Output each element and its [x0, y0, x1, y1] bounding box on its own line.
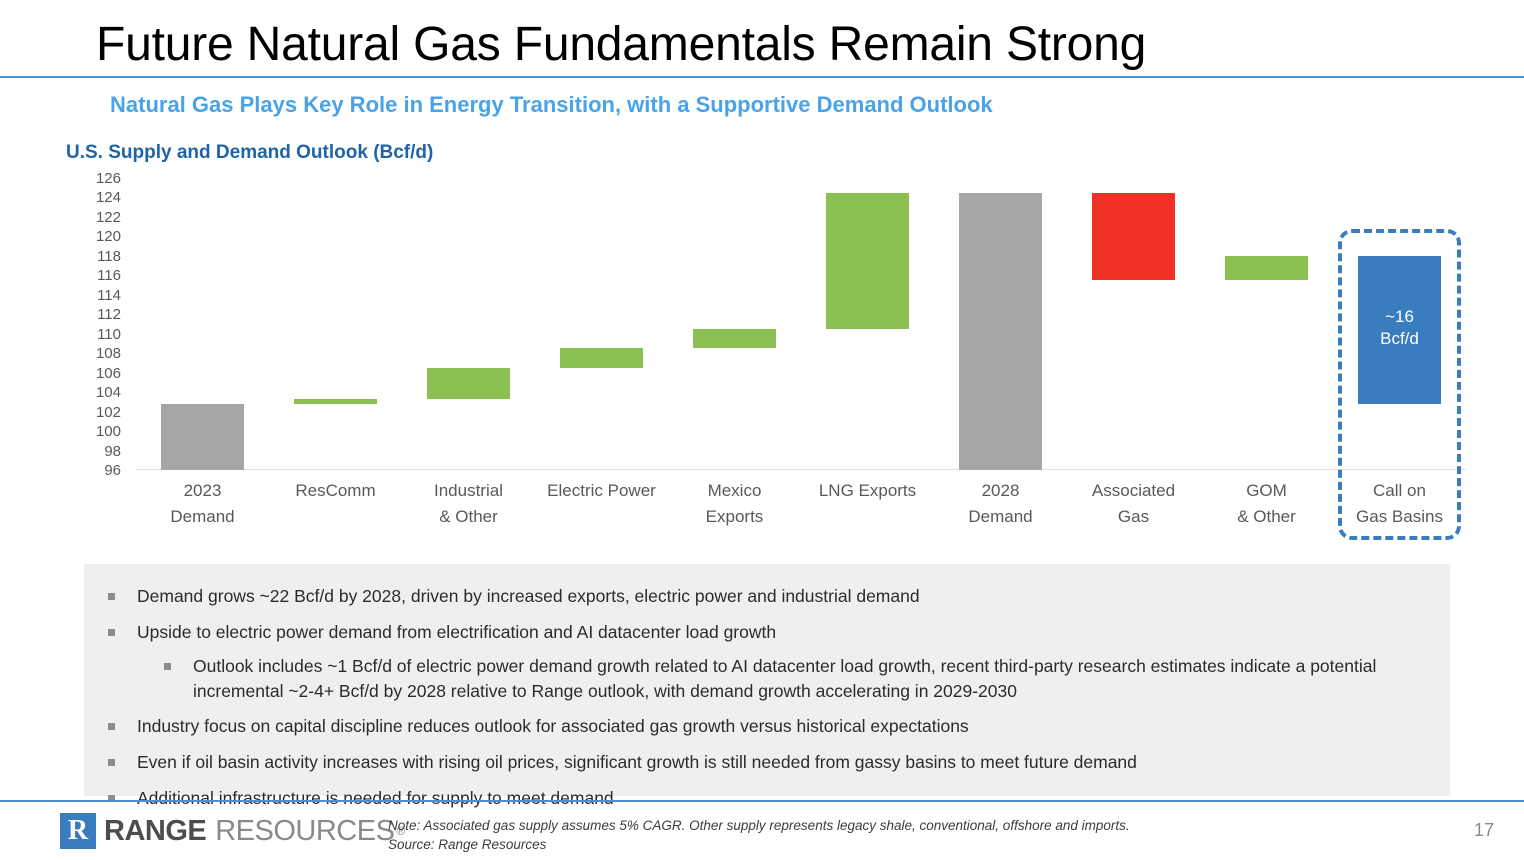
x-axis-label-line-2: & Other	[402, 504, 535, 530]
y-axis-tick: 120	[96, 229, 121, 244]
x-axis-label-electric-power: Electric Power	[535, 478, 668, 504]
title-divider	[0, 76, 1524, 78]
footnote-line-2: Source: Range Resources	[388, 835, 1130, 854]
x-axis-label-line-1: GOM	[1200, 478, 1333, 504]
x-axis-label-line-2: Exports	[668, 504, 801, 530]
page-number: 17	[1474, 820, 1494, 841]
x-axis-label-gom-other: GOM& Other	[1200, 478, 1333, 530]
footnote-line-1: Note: Associated gas supply assumes 5% C…	[388, 816, 1130, 835]
y-axis-tick: 118	[97, 249, 121, 264]
bar-rescomm	[294, 399, 376, 404]
y-axis-tick: 102	[96, 405, 121, 420]
range-resources-logo: R RANGE RESOURCES ®	[60, 810, 405, 852]
bullet-text: Even if oil basin activity increases wit…	[137, 750, 1420, 775]
footer-divider	[0, 800, 1524, 802]
x-axis-label-line-2: & Other	[1200, 504, 1333, 530]
y-axis-tick: 116	[97, 268, 121, 283]
x-axis-label-line-1: Industrial	[402, 478, 535, 504]
x-axis-label-rescomm: ResComm	[269, 478, 402, 504]
y-axis-tick: 106	[96, 366, 121, 381]
waterfall-chart: 1261241221201181161141121101081061041021…	[66, 178, 1466, 548]
x-axis-label-line-1: Associated	[1067, 478, 1200, 504]
chart-caption: U.S. Supply and Demand Outlook (Bcf/d)	[66, 140, 433, 166]
bullet-text: Additional infrastructure is needed for …	[137, 786, 1420, 811]
bullet-item: Even if oil basin activity increases wit…	[84, 744, 1450, 780]
x-axis-label-line-2: Gas Basins	[1333, 504, 1466, 530]
x-axis-label-line-1: Mexico	[668, 478, 801, 504]
bullet-text: Upside to electric power demand from ele…	[137, 620, 1420, 645]
bar-mexico-exports	[693, 329, 775, 348]
bullet-item: Demand grows ~22 Bcf/d by 2028, driven b…	[84, 578, 1450, 614]
logo-word-resources: RESOURCES	[215, 815, 394, 848]
y-axis-tick: 122	[96, 210, 121, 225]
bullet-item: Industry focus on capital discipline red…	[84, 708, 1450, 744]
bullet-square-icon	[108, 723, 115, 730]
chart-baseline	[136, 469, 1466, 470]
bullet-square-icon	[164, 663, 171, 670]
y-axis-tick: 98	[104, 444, 121, 459]
y-axis-tick: 108	[96, 346, 121, 361]
bar-call-on-gas-basins: ~16Bcf/d	[1358, 256, 1440, 404]
y-axis-tick: 100	[96, 424, 121, 439]
x-axis-label-call-on-gas-basins: Call onGas Basins	[1333, 478, 1466, 530]
x-axis-label-line-1: LNG Exports	[801, 478, 934, 504]
bar-electric-power	[560, 348, 642, 367]
chart-y-axis: 1261241221201181161141121101081061041021…	[66, 178, 121, 478]
x-axis-label-line-1: Electric Power	[535, 478, 668, 504]
bar-lng-exports	[826, 193, 908, 329]
y-axis-tick: 126	[96, 171, 121, 186]
x-axis-label-line-2: Gas	[1067, 504, 1200, 530]
bullet-square-icon	[108, 629, 115, 636]
bar-2023-demand	[161, 404, 243, 470]
y-axis-tick: 110	[97, 327, 121, 342]
y-axis-tick: 96	[104, 463, 121, 478]
x-axis-label-line-1: ResComm	[269, 478, 402, 504]
bullet-text: Demand grows ~22 Bcf/d by 2028, driven b…	[137, 584, 1420, 609]
footnote: Note: Associated gas supply assumes 5% C…	[388, 816, 1130, 854]
slide-subtitle: Natural Gas Plays Key Role in Energy Tra…	[110, 90, 993, 120]
bullet-square-icon	[108, 759, 115, 766]
x-axis-label-line-1: 2028	[934, 478, 1067, 504]
x-axis-label-2023-demand: 2023Demand	[136, 478, 269, 530]
bar-value-label-line-2: Bcf/d	[1358, 328, 1440, 350]
x-axis-label-line-1: Call on	[1333, 478, 1466, 504]
y-axis-tick: 104	[96, 385, 121, 400]
bar-associated-gas	[1092, 193, 1174, 281]
x-axis-label-associated-gas: AssociatedGas	[1067, 478, 1200, 530]
bullet-text: Outlook includes ~1 Bcf/d of electric po…	[193, 654, 1420, 704]
bullet-square-icon	[108, 593, 115, 600]
logo-word-range: RANGE	[104, 815, 206, 848]
bar-industrial-other	[427, 368, 509, 399]
bar-2028-demand	[959, 193, 1041, 470]
x-axis-label-mexico-exports: MexicoExports	[668, 478, 801, 530]
logo-mark-icon: R	[60, 813, 96, 849]
y-axis-tick: 114	[97, 288, 121, 303]
key-points-panel: Demand grows ~22 Bcf/d by 2028, driven b…	[84, 564, 1450, 796]
x-axis-label-line-2: Demand	[136, 504, 269, 530]
bullet-text: Industry focus on capital discipline red…	[137, 714, 1420, 739]
x-axis-label-industrial-other: Industrial& Other	[402, 478, 535, 530]
x-axis-label-2028-demand: 2028Demand	[934, 478, 1067, 530]
y-axis-tick: 124	[96, 190, 121, 205]
bar-gom-other	[1225, 256, 1307, 280]
x-axis-label-lng-exports: LNG Exports	[801, 478, 934, 504]
page-title: Future Natural Gas Fundamentals Remain S…	[96, 16, 1146, 74]
x-axis-label-line-2: Demand	[934, 504, 1067, 530]
chart-x-axis: 2023DemandResCommIndustrial& OtherElectr…	[136, 478, 1466, 540]
y-axis-tick: 112	[97, 307, 121, 322]
chart-plot-area: ~16Bcf/d	[136, 178, 1466, 470]
x-axis-label-line-1: 2023	[136, 478, 269, 504]
bullet-item: Outlook includes ~1 Bcf/d of electric po…	[84, 650, 1450, 708]
bar-value-label-line-1: ~16	[1358, 306, 1440, 328]
bullet-item: Upside to electric power demand from ele…	[84, 614, 1450, 650]
